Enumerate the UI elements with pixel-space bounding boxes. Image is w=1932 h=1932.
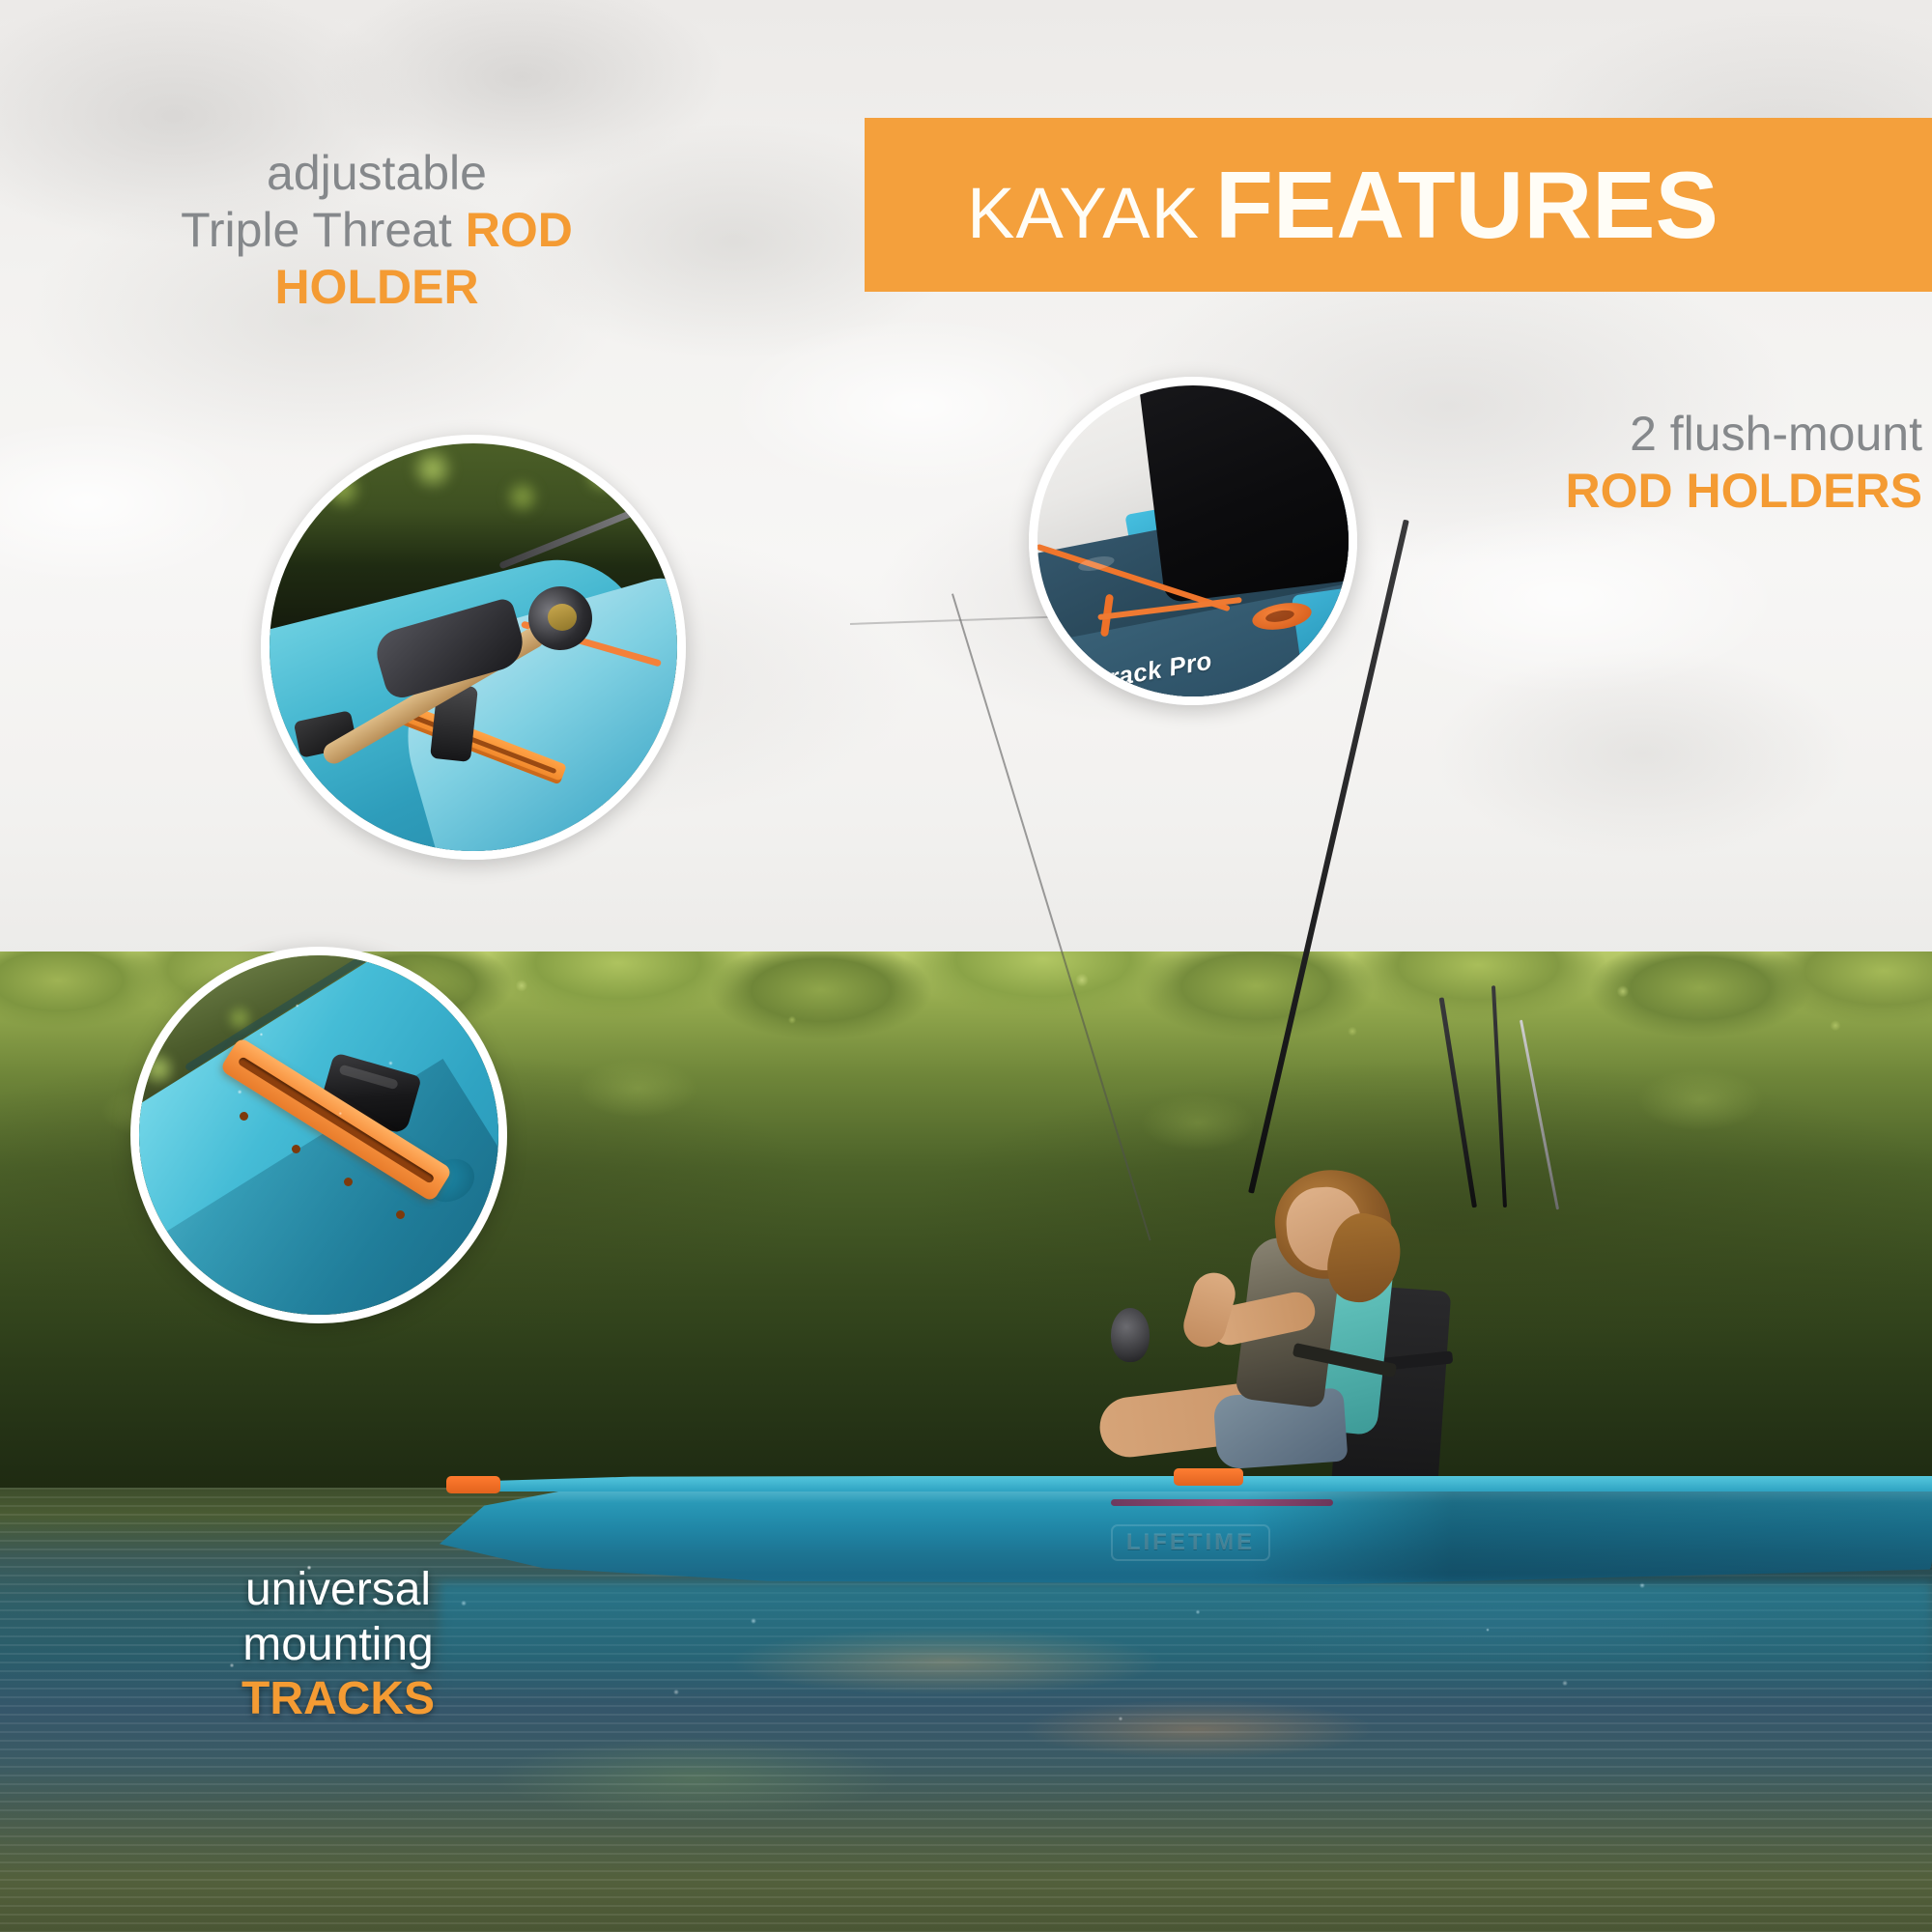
banner-title-bold: FEATURES (1215, 152, 1719, 258)
callout-flush-mount-rod-holders: 2 flush-mount ROD HOLDERS (1140, 406, 1922, 520)
inset-rod-holder-reel-spool (548, 604, 577, 631)
kayak-water-reflection (440, 1582, 1932, 1698)
callout-flush-mount-line2: ROD HOLDERS (1140, 463, 1922, 520)
callout-tracks-line2: mounting (135, 1618, 541, 1673)
callout-rod-holder-line1: adjustable (87, 145, 667, 202)
callout-rod-holder-line2-light: Triple Threat (181, 203, 466, 257)
callout-rod-holder-line2: Triple Threat ROD (87, 202, 667, 259)
kayak-accent-stripe (1111, 1499, 1333, 1506)
kayak-brand-emboss: LIFETIME (1111, 1524, 1270, 1561)
callout-tracks-line3: TRACKS (135, 1672, 541, 1727)
infographic-canvas: LIFETIME KAYAKFEATURES (0, 0, 1932, 1932)
callout-tracks-line1: universal (135, 1563, 541, 1618)
banner-title-light: KAYAK (967, 173, 1200, 253)
kayak-bow-handle (446, 1476, 500, 1493)
inset-rod-holder-foliage (270, 443, 677, 559)
callout-rod-holder: adjustable Triple Threat ROD HOLDER (87, 145, 667, 316)
kayak-deck-hardware (1174, 1468, 1243, 1486)
callout-flush-mount-line1: 2 flush-mount (1140, 406, 1922, 463)
page-title: KAYAKFEATURES (967, 157, 1719, 252)
callout-rod-holder-line3: HOLDER (87, 259, 667, 316)
inset-photo-rod-holder (261, 435, 686, 860)
inset-photo-mounting-tracks (130, 947, 507, 1323)
inset-tracks-water-droplets (139, 955, 498, 1315)
callout-rod-holder-line2-bold: ROD (466, 203, 573, 257)
header-banner: KAYAKFEATURES (865, 118, 1932, 292)
kayak-hull-shadow (1246, 1488, 1932, 1584)
spinning-reel (1111, 1308, 1150, 1362)
callout-mounting-tracks: universal mounting TRACKS (135, 1563, 541, 1727)
kayak-angler (1140, 1164, 1546, 1497)
